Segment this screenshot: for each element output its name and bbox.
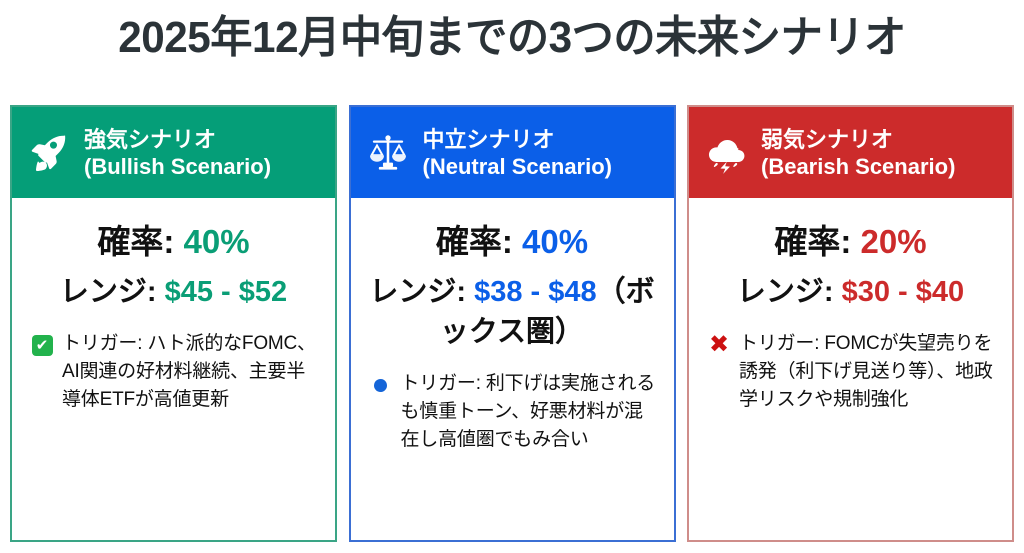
cross-mark-glyph: ✖: [709, 333, 729, 357]
trigger-text: トリガー: ハト派的なFOMC、AI関連の好材料継続、主要半導体ETFが高値更新: [62, 330, 321, 414]
card-title-en: (Bullish Scenario): [84, 153, 271, 180]
probability-value: 40%: [522, 223, 588, 260]
card-title-en: (Bearish Scenario): [761, 153, 955, 180]
card-title-en: (Neutral Scenario): [423, 153, 613, 180]
trigger-text: トリガー: 利下げは実施されるも慎重トーン、好悪材料が混在し高値圏でもみ合い: [401, 370, 660, 454]
check-mark-glyph: ✔: [32, 335, 53, 356]
range-value: $38 - $48: [474, 276, 597, 308]
balance-scales-icon: [365, 127, 411, 179]
range-value: $30 - $40: [842, 276, 965, 308]
page-title: 2025年12月中旬までの3つの未来シナリオ: [20, 8, 1003, 68]
range-value: $45 - $52: [165, 276, 288, 308]
probability-row-neutral: 確率: 40%: [365, 220, 660, 264]
range-label: レンジ:: [737, 276, 834, 308]
probability-row-bearish: 確率: 20%: [703, 220, 998, 264]
bullet-dot-icon: [369, 373, 393, 397]
trigger-row-bearish: ✖ トリガー: FOMCが失望売りを誘発（利下げ見送り等）、地政学リスクや規制強…: [703, 330, 998, 414]
card-title-ja: 中立シナリオ: [423, 127, 555, 152]
storm-cloud-icon: [703, 127, 749, 179]
range-row-bearish: レンジ: $30 - $40: [703, 272, 998, 312]
check-mark-icon: ✔: [30, 333, 54, 357]
card-body-bearish: 確率: 20% レンジ: $30 - $40 ✖ トリガー: FOMCが失望売り…: [689, 198, 1012, 540]
scenario-card-bearish[interactable]: 弱気シナリオ (Bearish Scenario) 確率: 20% レンジ: $…: [687, 105, 1014, 542]
card-header-neutral: 中立シナリオ (Neutral Scenario): [351, 107, 674, 198]
trigger-row-bullish: ✔ トリガー: ハト派的なFOMC、AI関連の好材料継続、主要半導体ETFが高値…: [26, 330, 321, 414]
probability-label: 確率:: [97, 223, 174, 260]
range-row-neutral: レンジ: $38 - $48（ボックス圏）: [365, 272, 660, 352]
rocket-icon: [26, 127, 72, 179]
card-header-bearish: 弱気シナリオ (Bearish Scenario): [689, 107, 1012, 198]
card-title-neutral: 中立シナリオ (Neutral Scenario): [423, 126, 613, 180]
range-label: レンジ:: [369, 276, 466, 308]
card-body-neutral: 確率: 40% レンジ: $38 - $48（ボックス圏） トリガー: 利下げは…: [351, 198, 674, 540]
probability-row-bullish: 確率: 40%: [26, 220, 321, 264]
card-title-ja: 強気シナリオ: [84, 127, 216, 152]
probability-value: 40%: [184, 223, 250, 260]
range-row-bullish: レンジ: $45 - $52: [26, 272, 321, 312]
trigger-text: トリガー: FOMCが失望売りを誘発（利下げ見送り等）、地政学リスクや規制強化: [739, 330, 998, 414]
bullet-dot-glyph: [374, 379, 387, 392]
range-label: レンジ:: [60, 276, 157, 308]
card-body-bullish: 確率: 40% レンジ: $45 - $52 ✔ トリガー: ハト派的なFOMC…: [12, 198, 335, 540]
probability-label: 確率:: [436, 223, 513, 260]
card-title-bullish: 強気シナリオ (Bullish Scenario): [84, 126, 271, 180]
probability-label: 確率:: [774, 223, 851, 260]
card-title-bearish: 弱気シナリオ (Bearish Scenario): [761, 126, 955, 180]
card-title-ja: 弱気シナリオ: [761, 127, 893, 152]
scenario-card-neutral[interactable]: 中立シナリオ (Neutral Scenario) 確率: 40% レンジ: $…: [349, 105, 676, 542]
card-header-bullish: 強気シナリオ (Bullish Scenario): [12, 107, 335, 198]
scenario-card-bullish[interactable]: 強気シナリオ (Bullish Scenario) 確率: 40% レンジ: $…: [10, 105, 337, 542]
cross-mark-icon: ✖: [707, 333, 731, 357]
trigger-row-neutral: トリガー: 利下げは実施されるも慎重トーン、好悪材料が混在し高値圏でもみ合い: [365, 370, 660, 454]
scenario-card-deck: 強気シナリオ (Bullish Scenario) 確率: 40% レンジ: $…: [10, 105, 1014, 542]
probability-value: 20%: [861, 223, 927, 260]
